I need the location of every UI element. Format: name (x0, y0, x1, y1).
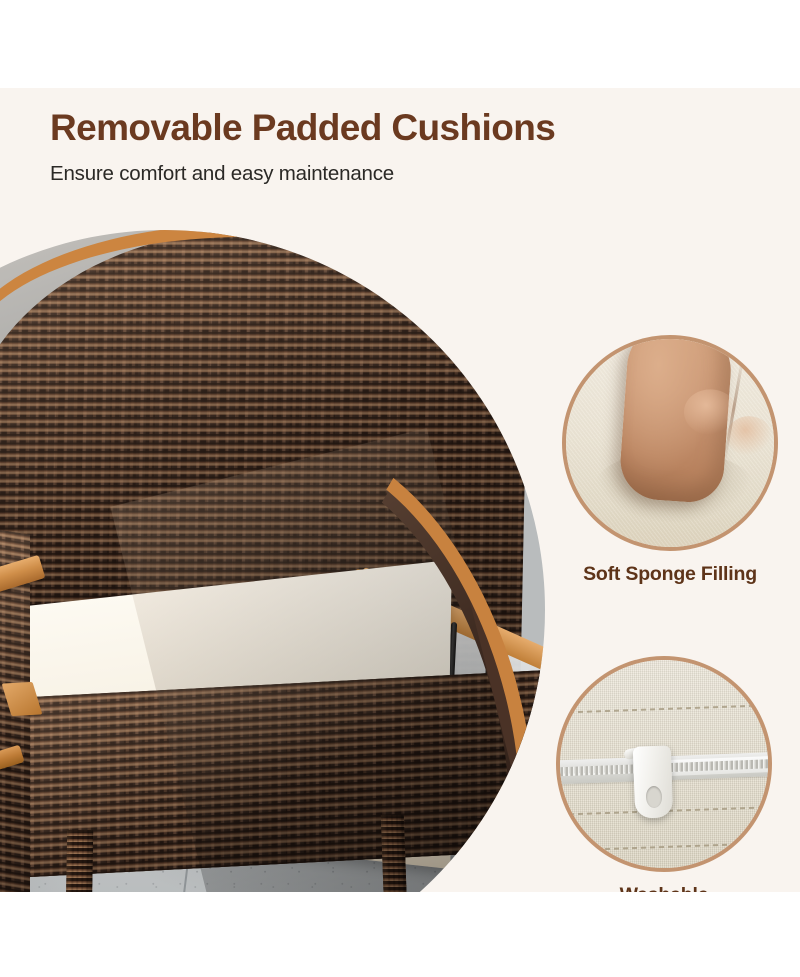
feature-washable-zippered-cover: Washable Zippered Cover (556, 656, 772, 892)
armrest-rail-cap (2, 682, 43, 716)
product-feature-page: Removable Padded Cushions Ensure comfort… (0, 0, 800, 977)
page-subtitle: Ensure comfort and easy maintenance (50, 162, 730, 186)
feature-label-line-1: Washable (556, 884, 772, 892)
soft-sponge-filling-image (562, 335, 778, 551)
hand-pressing-icon (618, 335, 734, 504)
armrest-mid-rail (0, 745, 25, 850)
armrest-top-rail (0, 555, 45, 666)
feature-label: Soft Sponge Filling (562, 563, 778, 587)
content-panel: Removable Padded Cushions Ensure comfort… (0, 88, 800, 892)
washable-zippered-cover-image (556, 656, 772, 872)
hero-image-circle (0, 230, 545, 892)
left-armrest (0, 582, 55, 892)
chair-leg-front (63, 830, 93, 892)
rattan-armchair-image (0, 230, 545, 892)
feature-label: Washable Zippered Cover (556, 884, 772, 892)
heading-block: Removable Padded Cushions Ensure comfort… (50, 108, 730, 186)
feature-soft-sponge-filling: Soft Sponge Filling (562, 335, 778, 587)
page-title: Removable Padded Cushions (50, 108, 730, 148)
